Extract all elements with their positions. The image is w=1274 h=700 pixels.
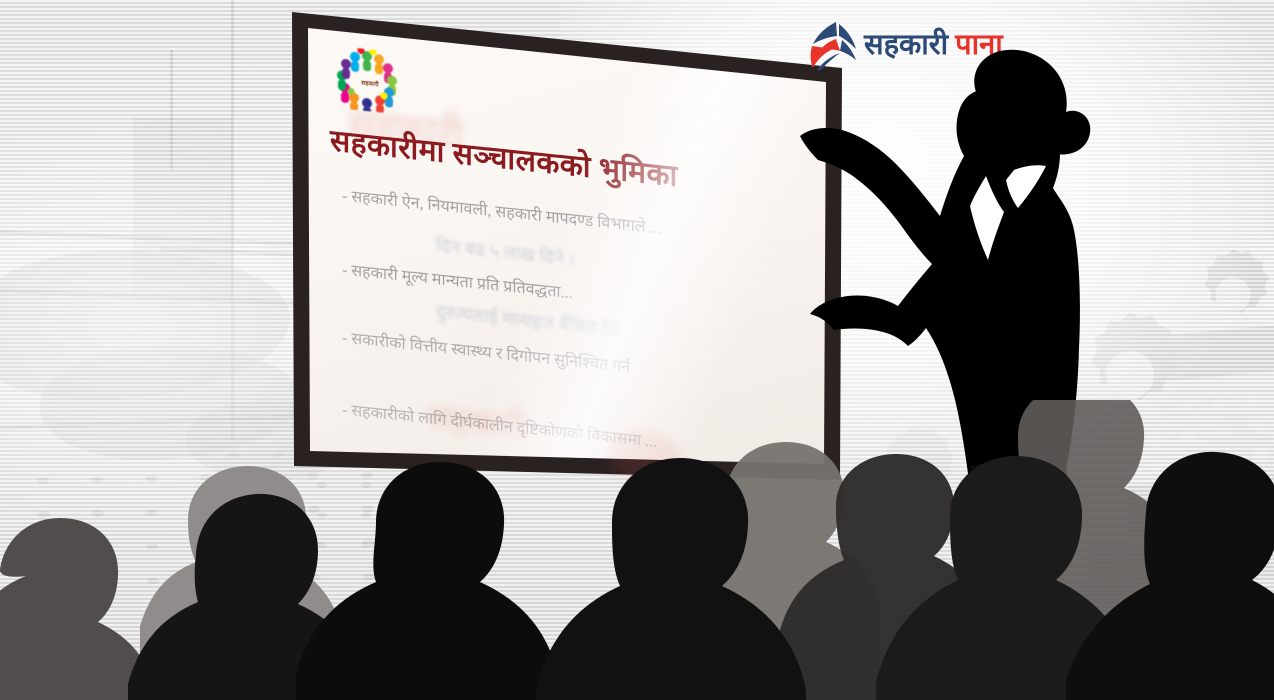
background-blob — [0, 250, 290, 400]
slide-ghost-line: दिन बढ ५ लाख दिने । — [436, 233, 575, 271]
background-streak — [0, 229, 330, 247]
cooperative-logo-icon: सहकारी — [334, 49, 406, 118]
slide-title: सहकारीमा सञ्चालकको भुमिका — [330, 118, 678, 195]
audience-row — [0, 400, 1274, 700]
slide-ghost-line: दुरुत्यलाई मानाइज बैंकिड फ्रि — [436, 299, 620, 342]
background-vertical-line — [170, 50, 173, 170]
cooperative-logo-caption: सहकारी — [361, 79, 378, 89]
slide-bullet: - सहकारी ऐन, नियमावली, सहकारी मापदण्ड वि… — [342, 184, 662, 239]
slide-bullet: - सहकारी मूल्य मान्यता प्रति प्रतिवद्धता… — [342, 258, 573, 304]
slide-bullet: - सकारीको वित्तीय स्वास्थ्य र दिगोपन सुन… — [342, 326, 630, 378]
background-panel — [133, 118, 233, 300]
background-shape — [1165, 325, 1274, 381]
audience-shapes — [0, 400, 1274, 700]
presentation-scene: सहकारी सहकारी सहकारीमा सञ्चालकको भुमिका … — [0, 0, 1274, 700]
background-vertical-line — [231, 0, 234, 440]
gear-icon — [1178, 240, 1274, 350]
audience-head — [296, 462, 558, 700]
